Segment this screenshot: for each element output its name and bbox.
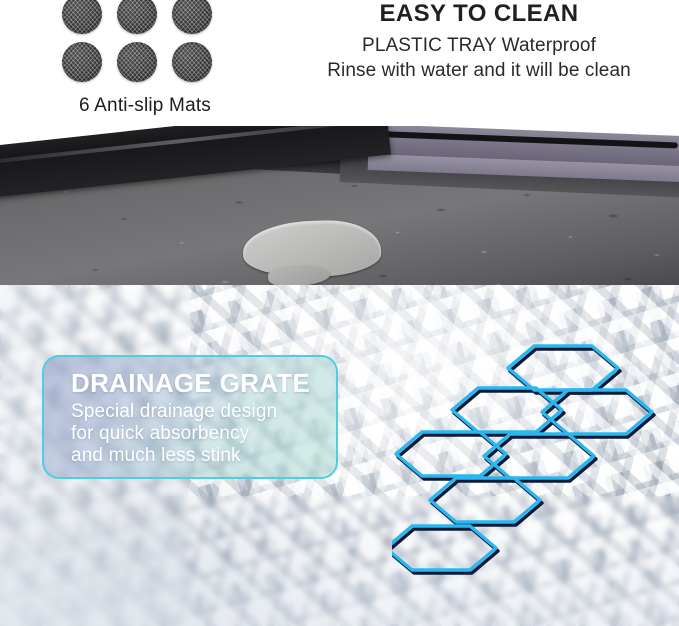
callout-body-line-3: and much less stink — [71, 445, 336, 467]
product-feature-image: 6 Anti-slip Mats EASY TO CLEAN PLASTIC T… — [0, 0, 679, 626]
headline-title: EASY TO CLEAN — [279, 1, 679, 27]
plastic-tray-photo — [0, 126, 679, 285]
anti-slip-mat-icon — [117, 0, 157, 34]
headline-subtitle-line-2: Rinse with water and it will be clean — [279, 58, 679, 83]
anti-slip-mat-icon — [117, 42, 157, 82]
anti-slip-mats-group — [60, 0, 218, 94]
callout-body-line-2: for quick absorbency — [71, 423, 336, 445]
easy-to-clean-panel: 6 Anti-slip Mats EASY TO CLEAN PLASTIC T… — [0, 0, 679, 285]
anti-slip-mat-icon — [62, 42, 102, 82]
anti-slip-mats-caption: 6 Anti-slip Mats — [0, 95, 290, 117]
drainage-grate-callout: DRAINAGE GRATE Special drainage design f… — [42, 355, 338, 479]
anti-slip-mat-icon — [172, 42, 212, 82]
headline-subtitle-line-1: PLASTIC TRAY Waterproof — [279, 33, 679, 58]
callout-title: DRAINAGE GRATE — [71, 368, 336, 398]
anti-slip-mat-icon — [62, 0, 102, 34]
anti-slip-mat-icon — [172, 0, 212, 34]
callout-body-line-1: Special drainage design — [71, 401, 336, 423]
headline-block: EASY TO CLEAN PLASTIC TRAY Waterproof Ri… — [279, 1, 679, 83]
